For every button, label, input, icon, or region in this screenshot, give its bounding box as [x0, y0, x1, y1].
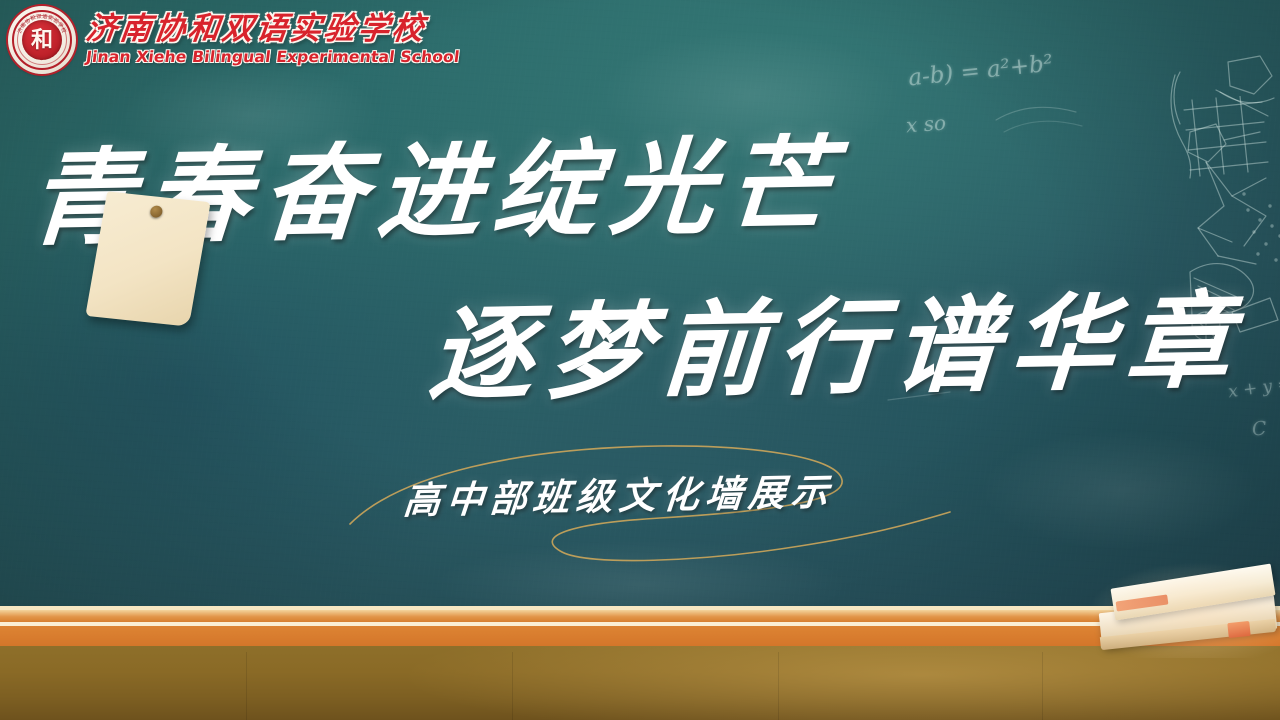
- school-name-en: Jinan Xiehe Bilingual Experimental Schoo…: [85, 50, 460, 66]
- emblem-center: 和: [22, 20, 62, 60]
- pinned-note: [85, 191, 210, 326]
- ledge-seam: [246, 652, 247, 720]
- ledge-seam: [778, 652, 779, 720]
- school-name-block: 济南协和双语实验学校 Jinan Xiehe Bilingual Experim…: [86, 14, 459, 66]
- emblem-center-char: 和: [31, 29, 53, 51]
- ledge-seam: [1042, 652, 1043, 720]
- chalk-smudge: [980, 430, 1260, 550]
- subtitle: 高中部班级文化墙展示: [402, 474, 836, 520]
- school-seal-emblem-icon: 济南协和双语实验学校 XIEHE SCHOOL 和: [8, 6, 76, 74]
- pin-icon: [149, 205, 163, 218]
- stack-of-books: [1086, 552, 1280, 660]
- ledge-seam: [512, 652, 513, 720]
- school-name-cn: 济南协和双语实验学校: [84, 14, 461, 45]
- book-accent-bookmark: [1227, 621, 1250, 638]
- title-line-2: 逐梦前行谱华章: [426, 289, 1246, 407]
- school-branding: 济南协和双语实验学校 XIEHE SCHOOL 和 济南协和双语实验学校 Jin…: [8, 6, 459, 74]
- slide-canvas: a-b) = a²+b² x so x + y = C: [0, 0, 1280, 720]
